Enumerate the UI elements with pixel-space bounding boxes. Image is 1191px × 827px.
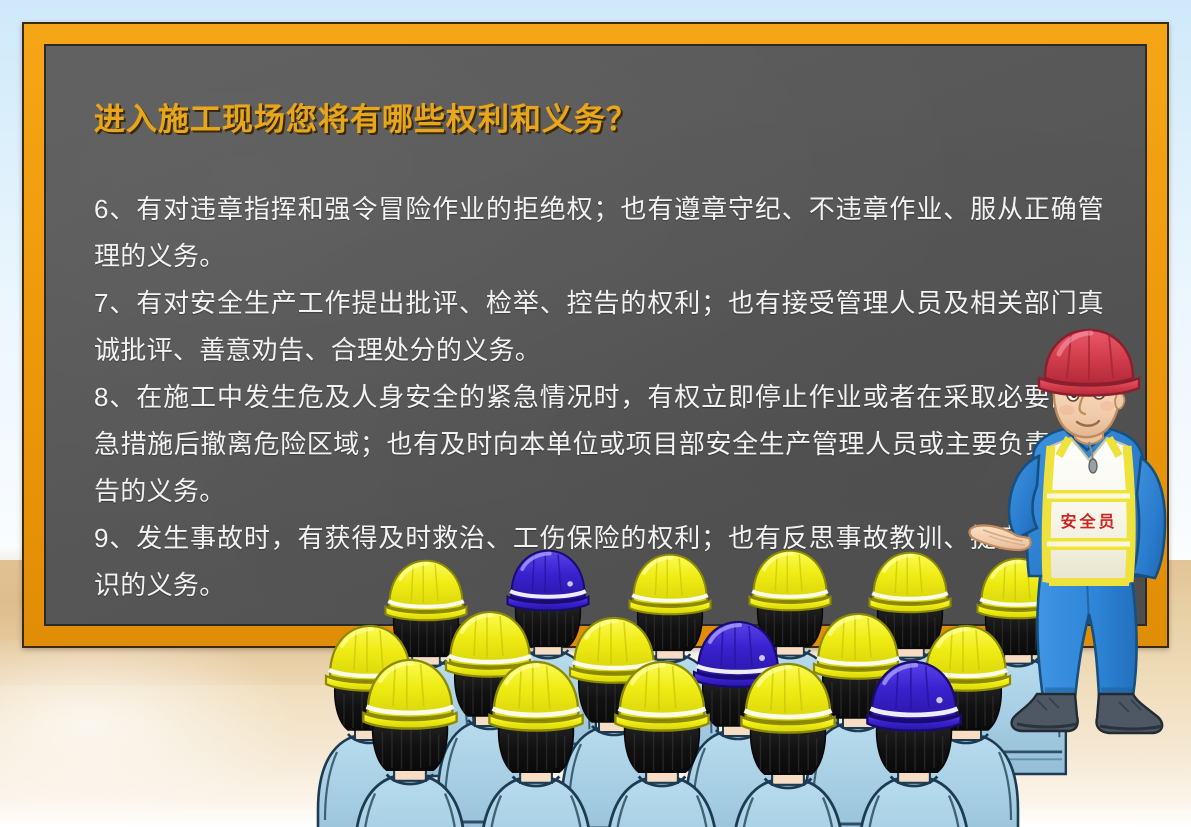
rights-and-duties-list: 6、有对违章指挥和强令冒险作业的拒绝权；也有遵章守纪、不违章作业、服从正确管理的… xyxy=(94,186,1104,609)
officer-hard-hat xyxy=(1039,330,1139,396)
floor-highlight-left xyxy=(0,640,300,827)
poster-canvas: 进入施工现场您将有哪些权利和义务？ 6、有对违章指挥和强令冒险作业的拒绝权；也有… xyxy=(0,0,1191,827)
safety-officer-figure: 安全员 xyxy=(1003,338,1191,758)
list-item: 7、有对安全生产工作提出批评、检举、控告的权利；也有接受管理人员及相关部门真诚批… xyxy=(94,280,1104,374)
vest-label-text: 安全员 xyxy=(1060,512,1117,531)
officer-shoes xyxy=(1012,694,1163,733)
officer-legs xyxy=(1037,570,1136,698)
list-item: 8、在施工中发生危及人身安全的紧急情况时，有权立即停止作业或者在采取必要的应急措… xyxy=(94,374,1104,515)
list-item: 6、有对违章指挥和强令冒险作业的拒绝权；也有遵章守纪、不违章作业、服从正确管理的… xyxy=(94,186,1104,280)
page-title: 进入施工现场您将有哪些权利和义务？ xyxy=(94,94,638,139)
officer-reflective-vest: 安全员 xyxy=(1046,438,1131,582)
worker-front-row xyxy=(355,660,969,827)
worker-crowd xyxy=(318,548,1063,827)
